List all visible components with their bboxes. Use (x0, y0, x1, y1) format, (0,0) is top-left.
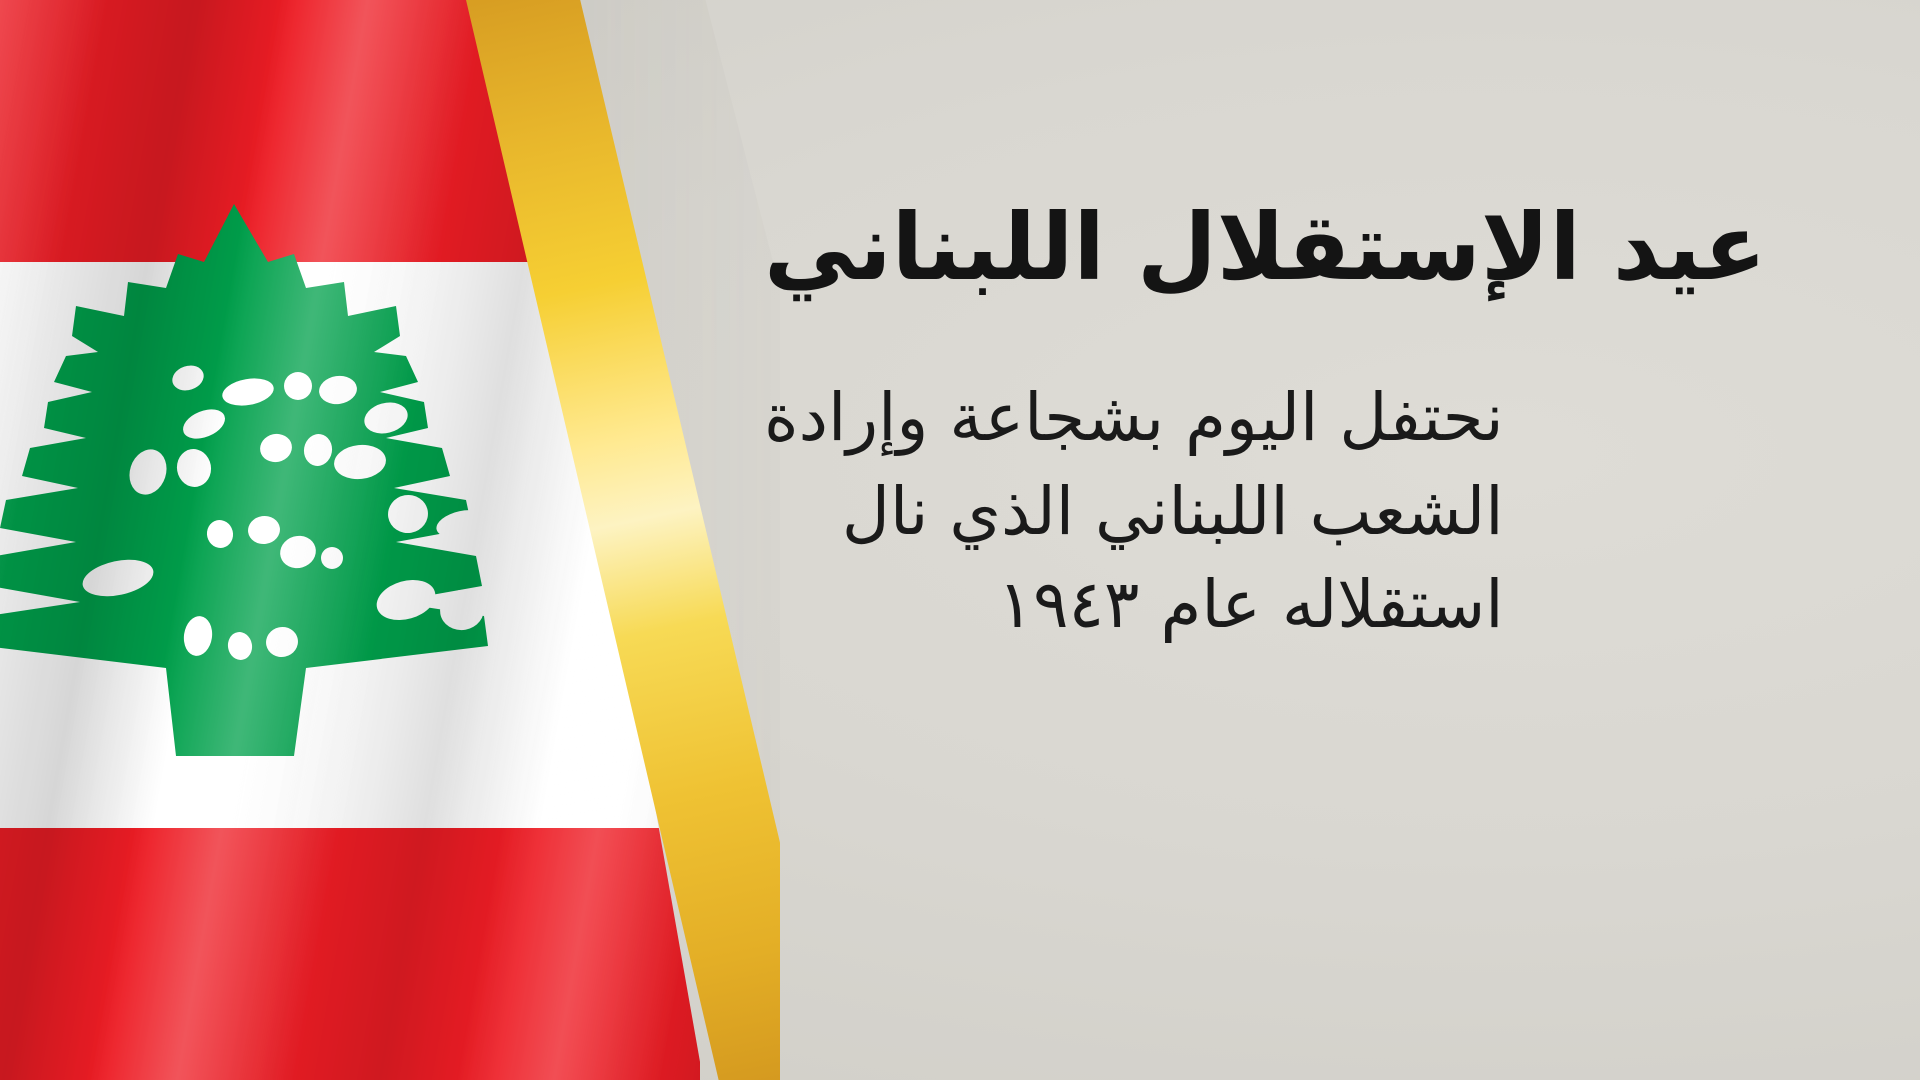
body-paragraph: نحتفل اليوم بشجاعة وإرادة الشعب اللبناني… (764, 371, 1504, 652)
flag-artwork-panel (0, 0, 780, 1080)
page-title: عيد الإستقلال اللبناني (764, 196, 1766, 299)
slide-canvas: عيد الإستقلال اللبناني نحتفل اليوم بشجاع… (0, 0, 1920, 1080)
text-column: عيد الإستقلال اللبناني نحتفل اليوم بشجاع… (764, 0, 1824, 1080)
body-line-1: نحتفل اليوم بشجاعة وإرادة (764, 371, 1504, 465)
body-line-2: الشعب اللبناني الذي نال (764, 465, 1504, 559)
body-line-3: استقلاله عام ١٩٤٣ (764, 558, 1504, 652)
